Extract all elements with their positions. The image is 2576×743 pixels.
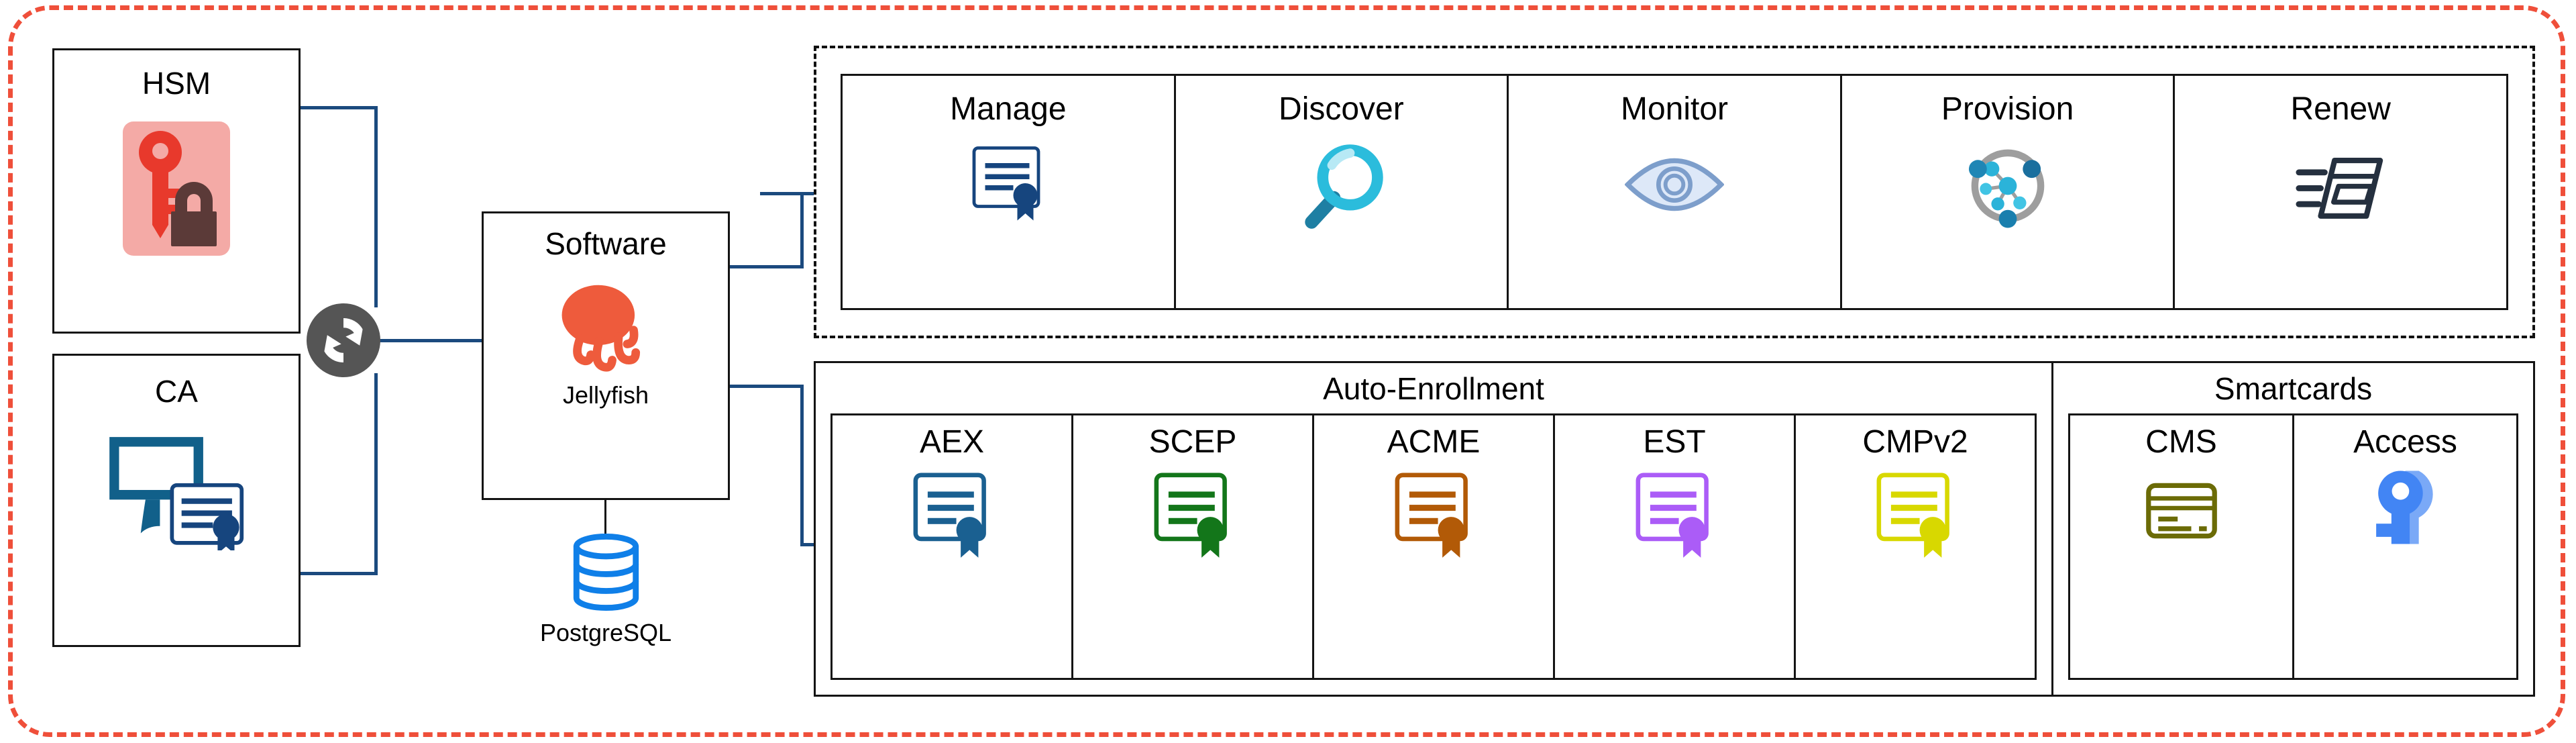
capability-cell-manage[interactable]: Manage: [843, 76, 1176, 308]
hsm-card[interactable]: HSM: [52, 48, 301, 334]
service-cell-scep[interactable]: SCEP: [1073, 415, 1314, 678]
software-product-label: Jellyfish: [563, 381, 649, 409]
capability-label: Provision: [1842, 93, 2173, 126]
capability-label: Manage: [843, 93, 1174, 126]
smartcards-row: CMS Access: [2068, 413, 2518, 680]
smartcards-title: Smartcards: [2214, 371, 2372, 407]
connector-software-bottom-stub: [728, 385, 803, 388]
connector-software-to-postgres: [604, 500, 606, 537]
certificate-seal-icon: [1631, 470, 1717, 564]
smartcards-group: Smartcards CMS: [2053, 363, 2533, 695]
capability-cell-discover[interactable]: Discover: [1176, 76, 1509, 308]
database-cylinder-icon: [571, 534, 641, 611]
smartcard-icon: [2145, 481, 2218, 544]
service-label: CMS: [2070, 426, 2292, 458]
eye-icon: [1625, 158, 1724, 215]
service-cell-access[interactable]: Access: [2294, 415, 2516, 678]
service-label: Access: [2294, 426, 2516, 458]
service-cell-aex[interactable]: AEX: [833, 415, 1073, 678]
service-cell-acme[interactable]: ACME: [1314, 415, 1555, 678]
jellyfish-icon: [552, 277, 659, 377]
capabilities-row: Manage Discover: [841, 74, 2508, 310]
service-label: ACME: [1314, 426, 1553, 458]
sync-refresh-icon[interactable]: [307, 303, 380, 377]
connector-hsm-vertical: [374, 106, 378, 307]
capability-cell-monitor[interactable]: Monitor: [1509, 76, 1842, 308]
network-nodes-icon: [1965, 143, 2051, 232]
capability-label: Discover: [1176, 93, 1507, 126]
connector-hsm-horizontal: [301, 106, 378, 109]
services-panel: Auto-Enrollment AEX: [814, 361, 2535, 697]
magnifier-icon: [1297, 143, 1385, 234]
ca-card[interactable]: CA: [52, 354, 301, 647]
certificate-seal-icon: [1872, 470, 1958, 564]
hsm-label: HSM: [54, 68, 299, 99]
postgresql-label: PostgreSQL: [540, 619, 672, 647]
capability-label: Renew: [2175, 93, 2506, 126]
connector-sync-to-software: [377, 339, 484, 342]
certificate-seal-icon: [969, 143, 1048, 227]
key-lock-icon: [123, 121, 230, 256]
connector-software-top-stub: [728, 265, 803, 268]
certificate-seal-icon: [1391, 470, 1477, 564]
service-label: CMPv2: [1796, 426, 2035, 458]
certificate-seal-icon: [1150, 470, 1236, 564]
connector-ca-horizontal: [301, 572, 378, 575]
auto-enrollment-group: Auto-Enrollment AEX: [816, 363, 2053, 695]
monitor-certificate-icon: [105, 430, 249, 550]
fast-document-icon: [2295, 152, 2386, 226]
connector-capabilities-entry: [760, 192, 817, 195]
capability-cell-renew[interactable]: Renew: [2175, 76, 2506, 308]
auto-enrollment-row: AEX SCEP: [830, 413, 2037, 680]
connector-software-top-riser: [800, 192, 804, 268]
service-cell-cms[interactable]: CMS: [2070, 415, 2294, 678]
service-label: AEX: [833, 426, 1071, 458]
certificate-seal-icon: [909, 470, 995, 564]
software-label: Software: [484, 228, 728, 259]
connector-software-bottom-riser: [800, 385, 804, 546]
connector-ca-vertical: [374, 373, 378, 575]
capability-label: Monitor: [1509, 93, 1840, 126]
capabilities-panel: Manage Discover: [814, 46, 2535, 338]
service-cell-cmpv2[interactable]: CMPv2: [1796, 415, 2035, 678]
service-cell-est[interactable]: EST: [1555, 415, 1796, 678]
postgresql-node[interactable]: PostgreSQL: [482, 534, 730, 647]
service-label: SCEP: [1073, 426, 1312, 458]
software-card[interactable]: Software Jellyfish: [482, 211, 730, 500]
double-key-icon: [2366, 466, 2445, 552]
auto-enrollment-title: Auto-Enrollment: [1323, 371, 1544, 407]
service-label: EST: [1555, 426, 1794, 458]
capability-cell-provision[interactable]: Provision: [1842, 76, 2176, 308]
ca-label: CA: [54, 376, 299, 407]
